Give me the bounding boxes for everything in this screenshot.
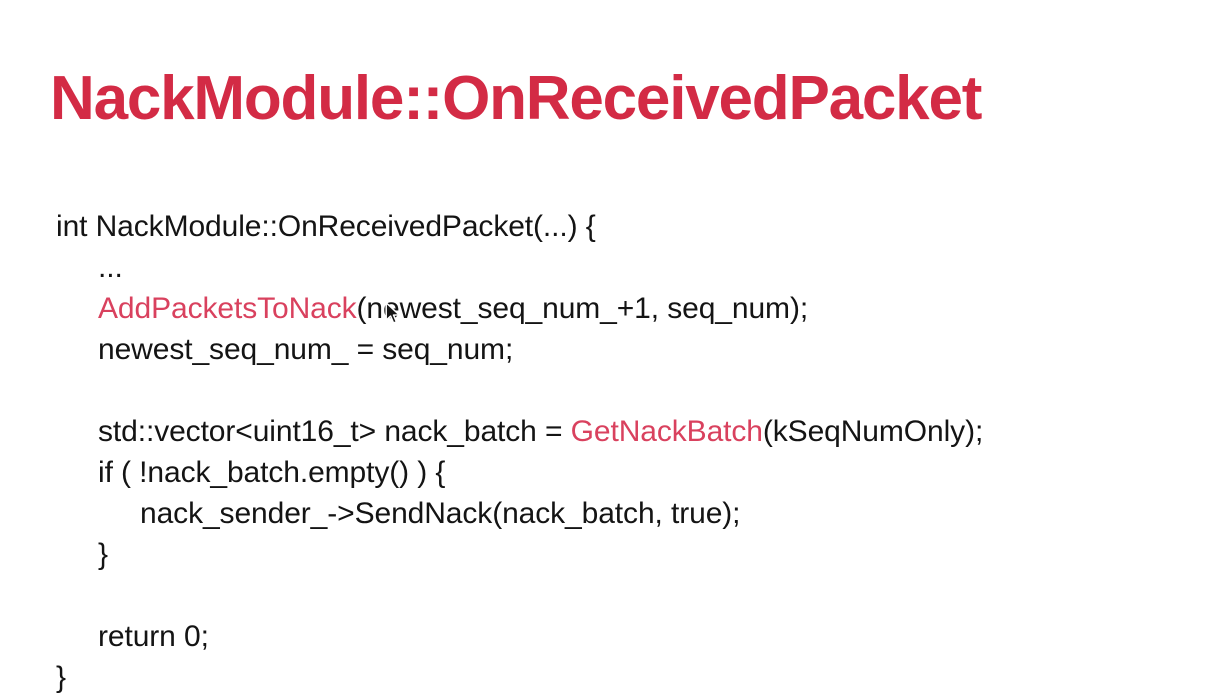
code-block: int NackModule::OnReceivedPacket(...) {.… <box>56 206 983 698</box>
code-function-name: GetNackBatch <box>571 415 763 448</box>
code-line: } <box>56 534 983 575</box>
code-line: AddPacketsToNack(newest_seq_num_+1, seq_… <box>56 288 983 329</box>
slide-canvas: NackModule::OnReceivedPacket int NackMod… <box>0 0 1207 674</box>
code-text: std::vector<uint16_t> nack_batch = <box>98 415 571 448</box>
page-title: NackModule::OnReceivedPacket <box>50 66 981 131</box>
code-text: } <box>56 661 66 694</box>
code-line: std::vector<uint16_t> nack_batch = GetNa… <box>56 411 983 452</box>
code-line: int NackModule::OnReceivedPacket(...) { <box>56 206 983 247</box>
code-line <box>56 575 983 616</box>
code-line: } <box>56 657 983 698</box>
code-text: (newest_seq_num_+1, seq_num); <box>357 292 809 325</box>
code-text: return 0; <box>98 620 209 653</box>
code-line: ... <box>56 247 983 288</box>
code-text: ... <box>98 251 123 284</box>
code-text: newest_seq_num_ = seq_num; <box>98 333 513 366</box>
code-text: } <box>98 538 108 571</box>
code-function-name: AddPacketsToNack <box>98 292 357 325</box>
code-line: return 0; <box>56 616 983 657</box>
code-line: nack_sender_->SendNack(nack_batch, true)… <box>56 493 983 534</box>
code-text: int NackModule::OnReceivedPacket(...) { <box>56 210 596 243</box>
code-text: (kSeqNumOnly); <box>763 415 983 448</box>
code-text: if ( !nack_batch.empty() ) { <box>98 456 445 489</box>
code-text: nack_sender_->SendNack(nack_batch, true)… <box>140 497 740 530</box>
code-line <box>56 370 983 411</box>
code-line: if ( !nack_batch.empty() ) { <box>56 452 983 493</box>
code-line: newest_seq_num_ = seq_num; <box>56 329 983 370</box>
